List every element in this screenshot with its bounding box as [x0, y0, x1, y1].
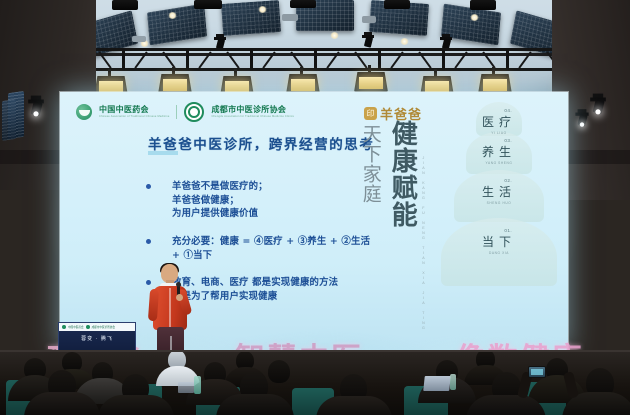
downlight — [330, 32, 339, 39]
water-bottle — [450, 374, 456, 390]
projection-screen: 中国中医药会 Chinese Association of Traditiona… — [60, 92, 568, 350]
cacm-logo-icon — [76, 104, 92, 120]
line-array-speaker — [2, 99, 16, 141]
chengdu-assoc-logo-icon — [184, 102, 204, 122]
wall-trim — [566, 150, 630, 164]
logo-dot-icon — [86, 325, 90, 329]
logo-dot-icon — [62, 325, 66, 329]
ceiling-projector-box — [112, 0, 138, 10]
podium-badge-right: 成都市中医诊所协会 — [92, 325, 115, 329]
vertical-text-pinyin: JIAN KANG FU NENG TIAN XIA JIA TING — [420, 156, 425, 331]
audience-laptop — [178, 382, 194, 393]
speaker-jacket-zipper — [169, 288, 171, 328]
downlight — [168, 12, 177, 19]
moving-head-light — [590, 94, 606, 115]
moving-head-light — [362, 32, 374, 48]
smartphone-camera — [528, 366, 546, 378]
lighting-truss — [58, 48, 578, 72]
audience-laptop — [423, 376, 451, 391]
seal-icon — [364, 107, 377, 120]
audience-shoulders — [216, 394, 294, 415]
vertical-text-family: 天下家庭 — [360, 124, 380, 204]
slide-title: 羊爸爸中医诊所，跨界经营的思考 — [148, 133, 375, 153]
ceiling-vent — [362, 16, 376, 23]
podium-monitor-header: 中国中医药会 成都市中医诊所协会 — [59, 323, 136, 331]
podium-badge-left: 中国中医药会 — [68, 325, 84, 329]
ceiling-vent — [282, 14, 298, 21]
acoustic-panel — [221, 0, 281, 36]
ceiling-vent — [132, 36, 146, 42]
speaker-presenter — [148, 264, 192, 356]
ceiling-projector-box — [384, 0, 410, 9]
slide-logo-row: 中国中医药会 Chinese Association of Traditiona… — [76, 102, 294, 122]
ceiling-projector-box — [194, 0, 222, 9]
bullet-dot-icon — [146, 239, 151, 244]
audience-shoulders — [98, 395, 174, 415]
health-pyramid: 04. 医疗 YI LIAO 03. 养生 YANG SHENG 02. 生活 … — [440, 102, 558, 332]
downlight — [400, 38, 409, 45]
downlight — [258, 6, 267, 13]
ceiling-projector-box — [470, 0, 496, 10]
cacm-logo-text: 中国中医药会 Chinese Association of Traditiona… — [99, 106, 169, 117]
bullet-dot-icon — [146, 184, 151, 189]
slide-bullet: 充分必要：健康 = ④医疗 + ③养生 + ②生活 + ①当下 — [142, 235, 378, 262]
slide-bullet: 羊爸爸不是做医疗的； 羊爸爸做健康； 为用户提供健康价值 — [142, 180, 378, 221]
moving-head-light — [575, 109, 588, 127]
downlight — [470, 14, 479, 21]
podium-monitor-title: 蓉变 · 腾飞 — [59, 335, 135, 342]
moving-head-light — [28, 96, 44, 117]
ceiling-projector-box — [290, 0, 316, 8]
speaker-right-hand — [176, 294, 183, 301]
vertical-text-health: 健康赋能 — [388, 120, 415, 228]
title-underline — [148, 151, 178, 155]
pyramid-label-3: 03. 养生 YANG SHENG — [482, 138, 516, 165]
pyramid-label-2: 02. 生活 SHENG HUO — [482, 178, 516, 205]
water-bottle — [194, 376, 201, 394]
slide-brand-graphic: 04. 医疗 YI LIAO 03. 养生 YANG SHENG 02. 生活 … — [344, 98, 562, 342]
logo-divider — [176, 105, 177, 119]
audience-foreground — [0, 352, 630, 415]
pyramid-label-4: 04. 医疗 YI LIAO — [482, 108, 516, 135]
screenshot-root: 中国中医药会 Chinese Association of Traditiona… — [0, 0, 630, 415]
chengdu-assoc-logo-text: 成都市中医诊所协会 Chengdu Association for Tradit… — [211, 106, 294, 117]
audience-shoulders — [316, 396, 392, 415]
pyramid-label-1: 01. 当下 DANG XIA — [482, 228, 516, 255]
